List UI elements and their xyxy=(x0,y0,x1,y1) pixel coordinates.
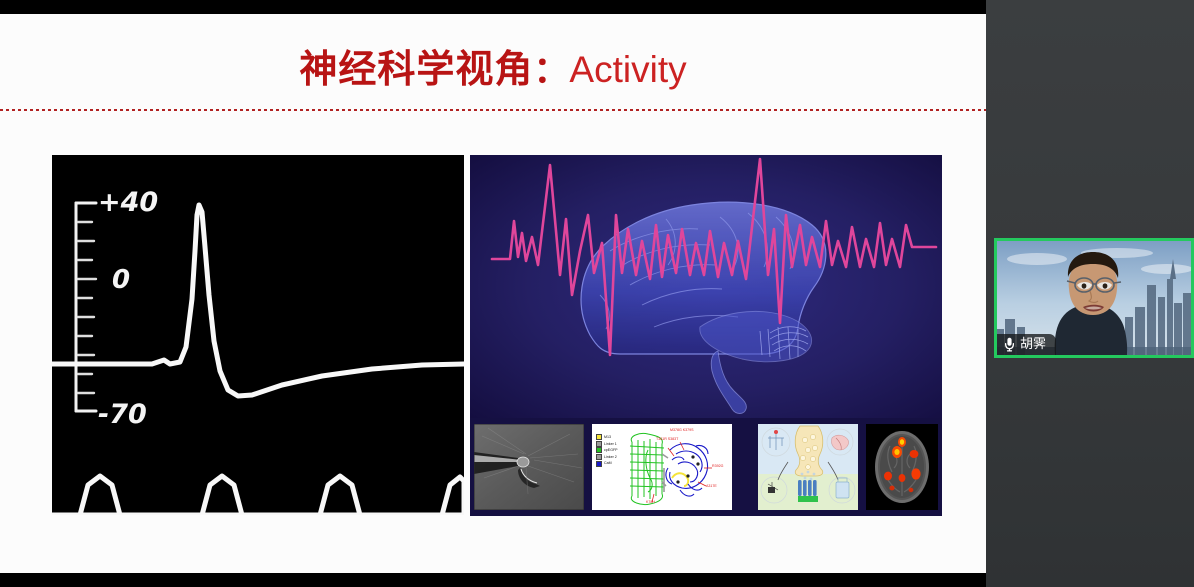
page-title-colon: ： xyxy=(533,49,569,90)
legend-label-linker1: Linker 1 xyxy=(604,441,617,448)
presentation-slide: 神经科学视角：Activity xyxy=(0,14,986,573)
legend-label-m13: M13 xyxy=(604,434,611,441)
gcamp-protein-structure: M13 Linker 1 cpEGFP Linker 2 CaM M378G K… xyxy=(592,424,732,510)
legend-label-cam: CaM xyxy=(604,460,612,467)
action-potential-trace-svg: +40 0 -70 xyxy=(52,155,464,515)
legend-item-cpegfp: cpEGFP xyxy=(596,447,618,454)
legend-swatch-cam xyxy=(596,461,602,467)
legend-swatch-linker2 xyxy=(596,454,602,460)
letterbox-bar-top xyxy=(0,0,986,14)
title-divider xyxy=(0,109,986,111)
svg-text:0: 0 xyxy=(112,265,130,295)
legend-swatch-m13 xyxy=(596,434,602,440)
page-title: 神经科学视角：Activity xyxy=(0,38,986,93)
shared-screen-region[interactable]: 神经科学视角：Activity xyxy=(0,0,986,587)
page-title-english: Activity xyxy=(569,49,686,90)
fmri-activation-map xyxy=(866,424,938,510)
participant-name: 胡霁 xyxy=(1020,337,1046,352)
figure-thumbnail-strip: M13 Linker 1 cpEGFP Linker 2 CaM M378G K… xyxy=(470,418,942,516)
microphone-icon xyxy=(1004,337,1015,352)
gcamp-legend: M13 Linker 1 cpEGFP Linker 2 CaM xyxy=(596,434,618,467)
legend-item-cam: CaM xyxy=(596,460,618,467)
legend-item-m13: M13 xyxy=(596,434,618,441)
eeg-brain-svg xyxy=(470,155,942,418)
legend-label-linker2: Linker 2 xyxy=(604,454,617,461)
patch-clamp-micrograph xyxy=(474,424,584,510)
eeg-brain-panel xyxy=(470,155,942,418)
page-title-chinese: 神经科学视角 xyxy=(299,47,533,91)
screen-share-meeting-window: 神经科学视角：Activity xyxy=(0,0,1194,587)
mutation-label-4: A317E xyxy=(706,484,717,488)
legend-item-linker2: Linker 2 xyxy=(596,454,618,461)
legend-swatch-cpegfp xyxy=(596,447,602,453)
legend-label-cpegfp: cpEGFP xyxy=(604,447,618,454)
neurotransmitter-sensor-schematic xyxy=(758,424,858,510)
mutation-label-2: T381R S383T xyxy=(656,437,678,441)
mutation-label-1: M378G K379S xyxy=(670,428,694,432)
mutation-label-3: R392G xyxy=(712,464,723,468)
action-potential-panel: +40 0 -70 xyxy=(52,155,464,515)
letterbox-bar-bottom xyxy=(0,573,986,587)
legend-item-linker1: Linker 1 xyxy=(596,441,618,448)
participant-name-badge: 胡霁 xyxy=(997,334,1056,355)
svg-text:-70: -70 xyxy=(98,399,147,430)
self-view-video-tile[interactable]: 胡霁 xyxy=(994,238,1194,358)
svg-text:+40: +40 xyxy=(98,187,158,218)
legend-swatch-linker1 xyxy=(596,441,602,447)
mutation-label-5: K78H xyxy=(646,500,655,504)
